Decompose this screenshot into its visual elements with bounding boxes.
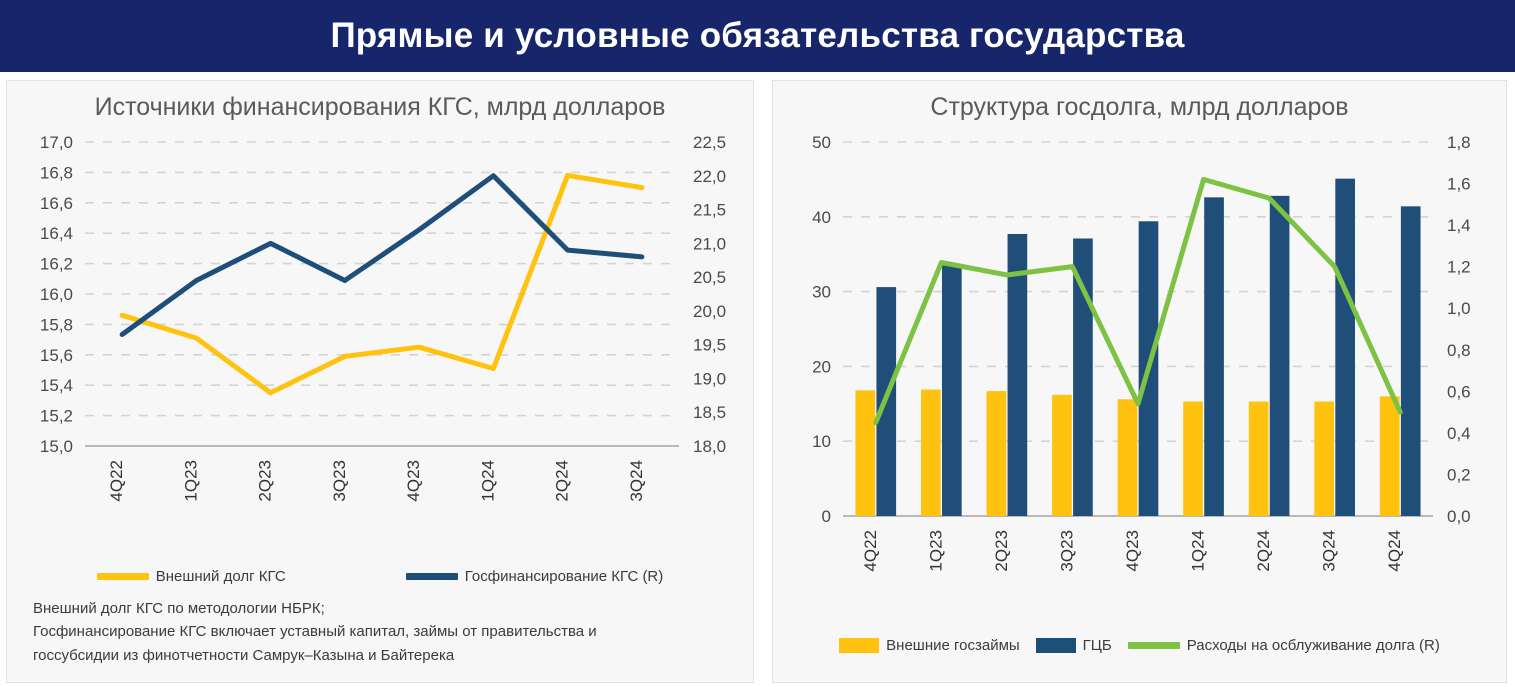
left-chart-plot: 15,015,215,415,615,816,016,216,416,616,8… xyxy=(7,128,753,548)
y-tick-label-left: 16,6 xyxy=(40,194,73,213)
bar xyxy=(921,390,941,516)
x-tick-label: 1Q24 xyxy=(1189,530,1208,572)
x-tick-label: 3Q23 xyxy=(1057,530,1076,572)
y-tick-label-right: 18,0 xyxy=(693,437,726,456)
y-tick-label-right: 1,6 xyxy=(1447,175,1471,194)
y-tick-label-left: 16,8 xyxy=(40,163,73,182)
y-tick-label-right: 1,0 xyxy=(1447,299,1471,318)
y-tick-label-right: 20,5 xyxy=(693,268,726,287)
legend-label: Внешние госзаймы xyxy=(886,637,1020,654)
bar xyxy=(1204,197,1224,516)
y-axis-right-labels: 0,00,20,40,60,81,01,21,41,61,8 xyxy=(1447,133,1471,526)
y-axis-left-labels: 01020304050 xyxy=(812,133,831,526)
legend-swatch-box-yellow xyxy=(839,638,879,653)
footnote-line-2: Госфинансирование КГС включает уставный … xyxy=(33,620,597,643)
right-chart-title: Структура госдолга, млрд долларов xyxy=(773,81,1506,122)
legend-swatch-line-green xyxy=(1128,642,1180,649)
y-tick-label-right: 18,5 xyxy=(693,403,726,422)
x-tick-label: 1Q24 xyxy=(478,460,497,502)
footnote-line-3: госсубсидии из финотчетности Самрук–Казы… xyxy=(33,644,597,667)
legend-label: ГЦБ xyxy=(1083,637,1112,654)
y-tick-label-left: 15,6 xyxy=(40,346,73,365)
y-tick-label-left: 0 xyxy=(822,507,831,526)
bar xyxy=(1183,402,1203,516)
y-tick-label-right: 0,0 xyxy=(1447,507,1471,526)
x-tick-label: 2Q23 xyxy=(256,460,275,502)
data-line xyxy=(122,175,642,392)
y-tick-label-left: 17,0 xyxy=(40,133,73,152)
x-axis-labels: 4Q221Q232Q233Q234Q231Q242Q243Q24 xyxy=(107,460,646,502)
y-tick-label-left: 16,4 xyxy=(40,224,73,243)
bar xyxy=(942,264,962,516)
y-tick-label-left: 16,0 xyxy=(40,285,73,304)
y-axis-right-labels: 18,018,519,019,520,020,521,021,522,022,5 xyxy=(693,133,726,456)
y-tick-label-right: 20,0 xyxy=(693,302,726,321)
x-tick-label: 4Q23 xyxy=(1123,530,1142,572)
right-chart-plot: 010203040500,00,20,40,60,81,01,21,41,61,… xyxy=(773,128,1506,618)
y-tick-label-left: 15,0 xyxy=(40,437,73,456)
bar xyxy=(1073,238,1093,516)
y-axis-left-labels: 15,015,215,415,615,816,016,216,416,616,8… xyxy=(40,133,73,456)
page-banner: Прямые и условные обязательства государс… xyxy=(0,0,1515,72)
bar xyxy=(1401,206,1421,516)
x-tick-label: 4Q22 xyxy=(861,530,880,572)
y-tick-label-right: 0,6 xyxy=(1447,382,1471,401)
y-tick-label-right: 1,4 xyxy=(1447,216,1471,235)
y-tick-label-left: 15,2 xyxy=(40,407,73,426)
y-tick-label-left: 10 xyxy=(812,432,831,451)
y-tick-label-right: 22,0 xyxy=(693,167,726,186)
y-tick-label-right: 0,8 xyxy=(1447,341,1471,360)
lines-group xyxy=(122,175,642,392)
x-tick-label: 1Q23 xyxy=(926,530,945,572)
left-chart-title: Источники финансирования КГС, млрд долла… xyxy=(7,81,753,122)
left-chart-svg: 15,015,215,415,615,816,016,216,416,616,8… xyxy=(7,128,753,548)
x-tick-label: 3Q24 xyxy=(627,460,646,502)
x-tick-label: 2Q23 xyxy=(992,530,1011,572)
y-tick-label-right: 21,0 xyxy=(693,234,726,253)
legend-label: Внешний долг КГС xyxy=(156,568,286,585)
y-tick-label-right: 21,5 xyxy=(693,201,726,220)
y-tick-label-left: 20 xyxy=(812,357,831,376)
footnote-line-1: Внешний долг КГС по методологии НБРК; xyxy=(33,597,597,620)
bar xyxy=(1335,179,1355,516)
x-tick-label: 4Q23 xyxy=(404,460,423,502)
x-tick-label: 1Q23 xyxy=(181,460,200,502)
right-chart-panel: Структура госдолга, млрд долларов 010203… xyxy=(772,80,1507,683)
x-tick-label: 2Q24 xyxy=(1254,530,1273,572)
bar xyxy=(1118,399,1138,516)
legend-swatch-box-navy xyxy=(1036,638,1076,653)
right-chart-svg: 010203040500,00,20,40,60,81,01,21,41,61,… xyxy=(773,128,1506,618)
charts-container: Источники финансирования КГС, млрд долла… xyxy=(0,72,1515,687)
x-tick-label: 3Q24 xyxy=(1320,530,1339,572)
bar xyxy=(855,390,875,516)
x-tick-label: 2Q24 xyxy=(553,460,572,502)
bar xyxy=(1314,402,1334,516)
y-tick-label-right: 22,5 xyxy=(693,133,726,152)
legend-label: Расходы на осблуживание долга (R) xyxy=(1187,637,1440,654)
gridlines xyxy=(85,142,679,416)
bars-group xyxy=(855,179,1420,516)
left-chart-footnotes: Внешний долг КГС по методологии НБРК; Го… xyxy=(33,597,597,667)
y-tick-label-left: 50 xyxy=(812,133,831,152)
left-chart-legend: Внешний долг КГС Госфинансирование КГС (… xyxy=(7,568,753,585)
legend-item-external-loans[interactable]: Внешние госзаймы xyxy=(839,637,1020,654)
y-tick-label-left: 30 xyxy=(812,283,831,302)
left-chart-panel: Источники финансирования КГС, млрд долла… xyxy=(6,80,754,683)
bar xyxy=(1270,196,1290,516)
y-tick-label-right: 19,0 xyxy=(693,369,726,388)
y-tick-label-right: 1,8 xyxy=(1447,133,1471,152)
legend-label: Госфинансирование КГС (R) xyxy=(465,568,663,585)
data-line xyxy=(122,176,642,335)
y-tick-label-right: 0,4 xyxy=(1447,424,1471,443)
y-tick-label-right: 19,5 xyxy=(693,336,726,355)
y-tick-label-left: 40 xyxy=(812,208,831,227)
legend-swatch-line-navy xyxy=(406,573,458,580)
bar xyxy=(1249,402,1269,516)
legend-item-state-financing[interactable]: Госфинансирование КГС (R) xyxy=(406,568,663,585)
legend-item-external-debt[interactable]: Внешний долг КГС xyxy=(97,568,286,585)
bar xyxy=(987,391,1007,516)
y-tick-label-left: 15,8 xyxy=(40,315,73,334)
x-axis-labels: 4Q221Q232Q233Q234Q231Q242Q243Q244Q24 xyxy=(861,530,1404,572)
right-chart-legend: Внешние госзаймы ГЦБ Расходы на осблужив… xyxy=(773,637,1506,654)
legend-item-gcb[interactable]: ГЦБ xyxy=(1036,637,1112,654)
x-tick-label: 3Q23 xyxy=(330,460,349,502)
bar xyxy=(1380,396,1400,516)
bar xyxy=(1052,395,1072,516)
y-tick-label-left: 16,2 xyxy=(40,255,73,274)
x-tick-label: 4Q22 xyxy=(107,460,126,502)
y-tick-label-left: 15,4 xyxy=(40,376,73,395)
y-tick-label-right: 1,2 xyxy=(1447,258,1471,277)
x-tick-label: 4Q24 xyxy=(1385,530,1404,572)
y-tick-label-right: 0,2 xyxy=(1447,465,1471,484)
legend-swatch-line-yellow xyxy=(97,573,149,580)
page-title: Прямые и условные обязательства государс… xyxy=(330,16,1184,56)
legend-item-debt-service[interactable]: Расходы на осблуживание долга (R) xyxy=(1128,637,1440,654)
